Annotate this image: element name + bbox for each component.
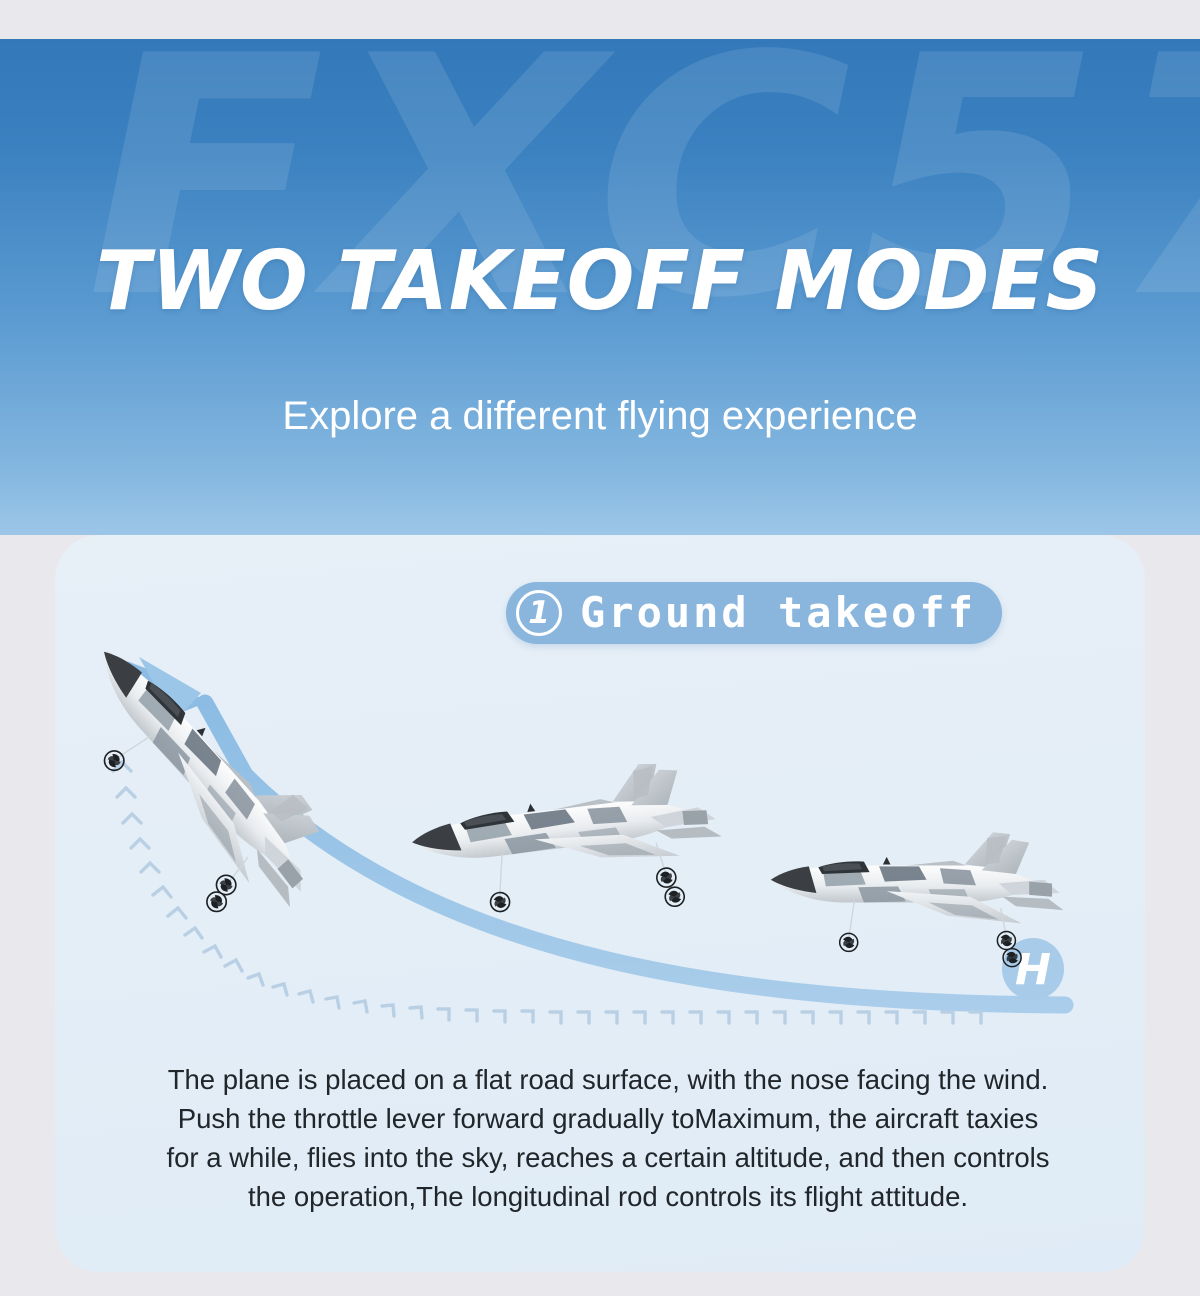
description-line-3: for a while, flies into the sky, reaches… [113,1138,1103,1177]
jet-climbing [55,618,352,948]
description-line-1: The plane is placed on a flat road surfa… [113,1060,1103,1099]
description-paragraph: The plane is placed on a flat road surfa… [113,1060,1103,1216]
ground-takeoff-card: 1 Ground takeoff [55,535,1145,1272]
top-margin-strip [0,0,1200,39]
page-title: TWO TAKEOFF MODES [18,239,1182,325]
hero-banner: FXC57 TWO TAKEOFF MODES Explore a differ… [0,39,1200,535]
takeoff-illustration: H [55,535,1145,1095]
page-subtitle: Explore a different flying experience [0,391,1200,441]
description-line-2: Push the throttle lever forward graduall… [113,1099,1103,1138]
description-line-4: the operation,The longitudinal rod contr… [113,1177,1103,1216]
